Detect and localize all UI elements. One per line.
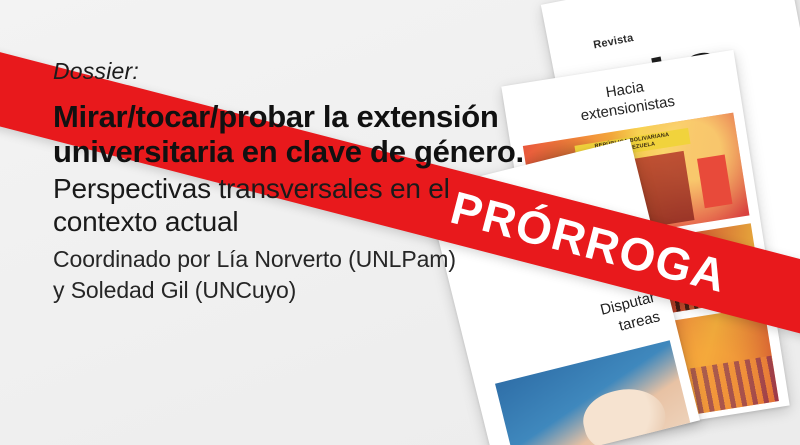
title-line-1: Mirar/tocar/probar la extensión [53, 99, 499, 134]
credits-line-1: Coordinado por Lía Norverto (UNLPam) [53, 246, 456, 272]
subtitle-line-2: contexto actual [53, 206, 238, 237]
dossier-label: Dossier: [53, 58, 523, 85]
mural-placard [697, 154, 732, 208]
dossier-text-block: Dossier: Mirar/tocar/probar la extensión… [53, 58, 523, 305]
coordinators-credits: Coordinado por Lía Norverto (UNLPam) y S… [53, 244, 523, 305]
hand-shape [577, 380, 672, 445]
subtitle-line-1: Perspectivas transversales en el [53, 173, 450, 204]
credits-line-2: y Soledad Gil (UNCuyo) [53, 277, 296, 303]
page-title: Mirar/tocar/probar la extensión universi… [53, 99, 523, 169]
page-subtitle: Perspectivas transversales en el context… [53, 172, 523, 238]
title-line-2: universitaria en clave de género. [53, 134, 524, 169]
poster-canvas: Revista e+e Hacia extensionistas REPÚBLI… [0, 0, 800, 445]
